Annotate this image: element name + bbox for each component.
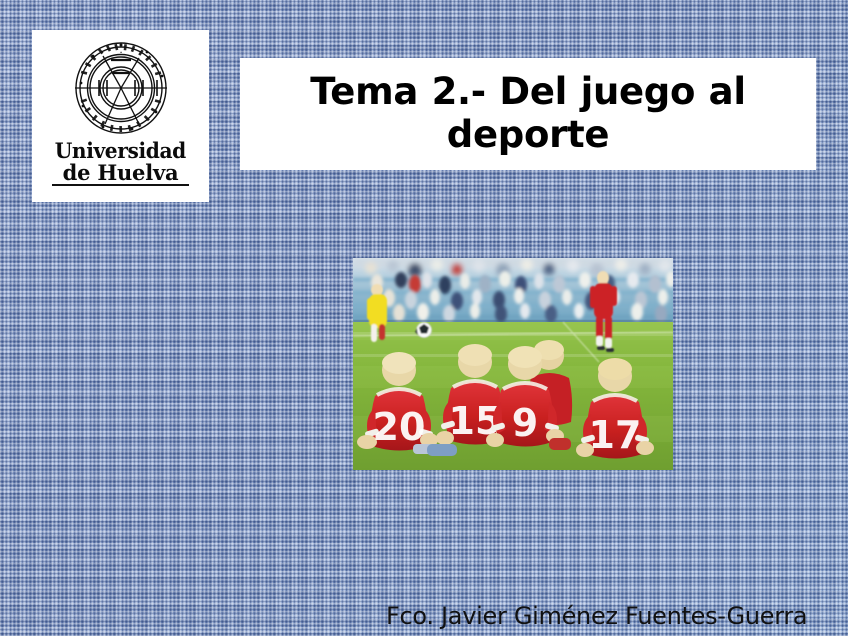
university-name-line2: de Huelva — [52, 162, 189, 186]
university-name-line1: Universidad — [55, 140, 186, 161]
svg-text:·: · — [119, 48, 122, 57]
presentation-slide: · — [0, 0, 848, 636]
university-logo-card: · — [32, 30, 209, 202]
football-players-photo: 20 15 — [353, 258, 673, 470]
slide-title-card: Tema 2.- Del juego al deporte — [240, 58, 816, 170]
university-name: Universidad de Huelva — [52, 140, 189, 186]
author-credit: Fco. Javier Giménez Fuentes-Guerra — [386, 602, 848, 630]
jersey-number-20: 20 — [373, 405, 426, 449]
university-seal-icon: · — [69, 36, 173, 140]
jersey-number-17: 17 — [589, 413, 642, 457]
page-title: Tema 2.- Del juego al deporte — [254, 71, 802, 157]
jersey-number-9: 9 — [512, 401, 538, 445]
